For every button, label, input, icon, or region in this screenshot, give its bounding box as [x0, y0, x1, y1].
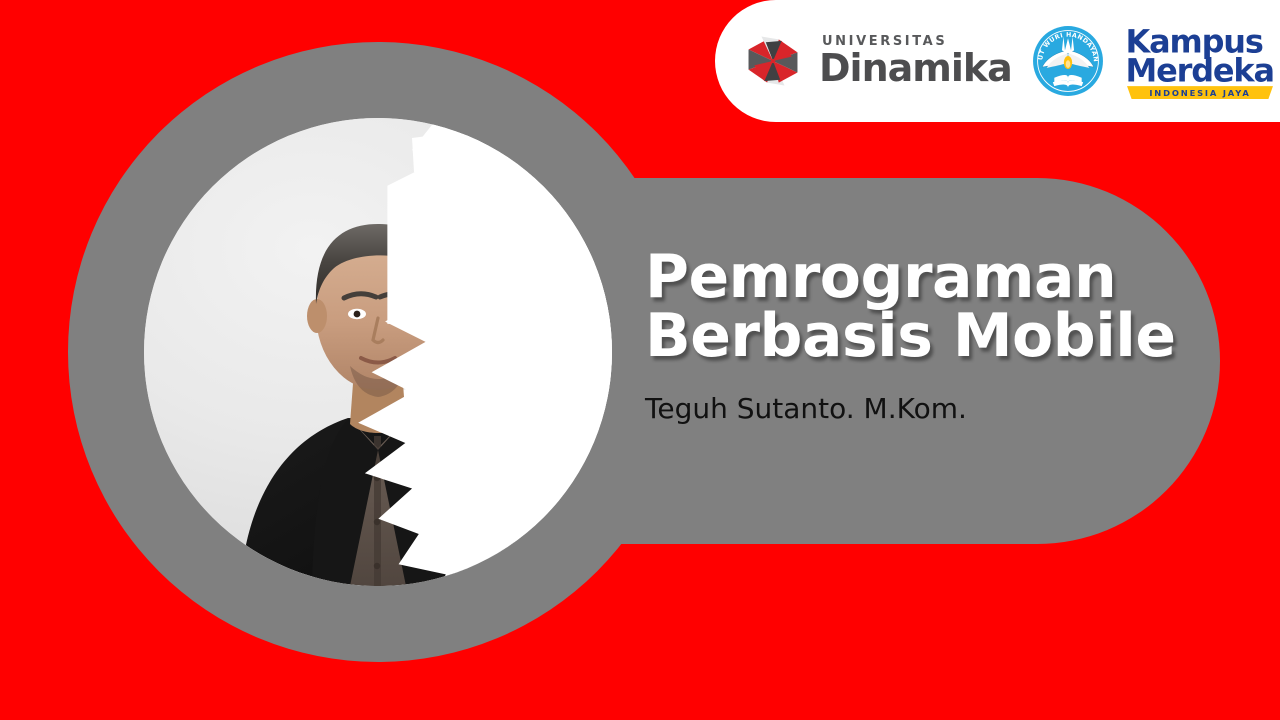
photo-paint-stroke-top	[387, 155, 612, 323]
svg-text:INDONESIA JAYA: INDONESIA JAYA	[1149, 88, 1250, 98]
svg-text:Merdeka: Merdeka	[1125, 52, 1273, 90]
tut-wuri-handayani-icon: TUT WURI HANDAYANI	[1030, 23, 1106, 99]
logo-bar: UNIVERSITAS Dinamika TUT WURI HANDAYANI	[715, 0, 1280, 122]
title-block: Pemrograman Berbasis Mobile Teguh Sutant…	[645, 248, 1205, 425]
page-title: Pemrograman Berbasis Mobile	[645, 248, 1205, 366]
dinamika-mark-icon	[737, 25, 809, 97]
universitas-dinamika-logo: UNIVERSITAS Dinamika	[737, 25, 1012, 97]
presenter-name: Teguh Sutanto. M.Kom.	[645, 392, 1205, 425]
lecturer-photo	[144, 118, 612, 586]
dinamika-wordmark: Dinamika	[819, 49, 1012, 87]
presentation-slide: Pemrograman Berbasis Mobile Teguh Sutant…	[0, 0, 1280, 720]
kampus-merdeka-icon: Kampus Merdeka INDONESIA JAYA	[1124, 19, 1276, 103]
